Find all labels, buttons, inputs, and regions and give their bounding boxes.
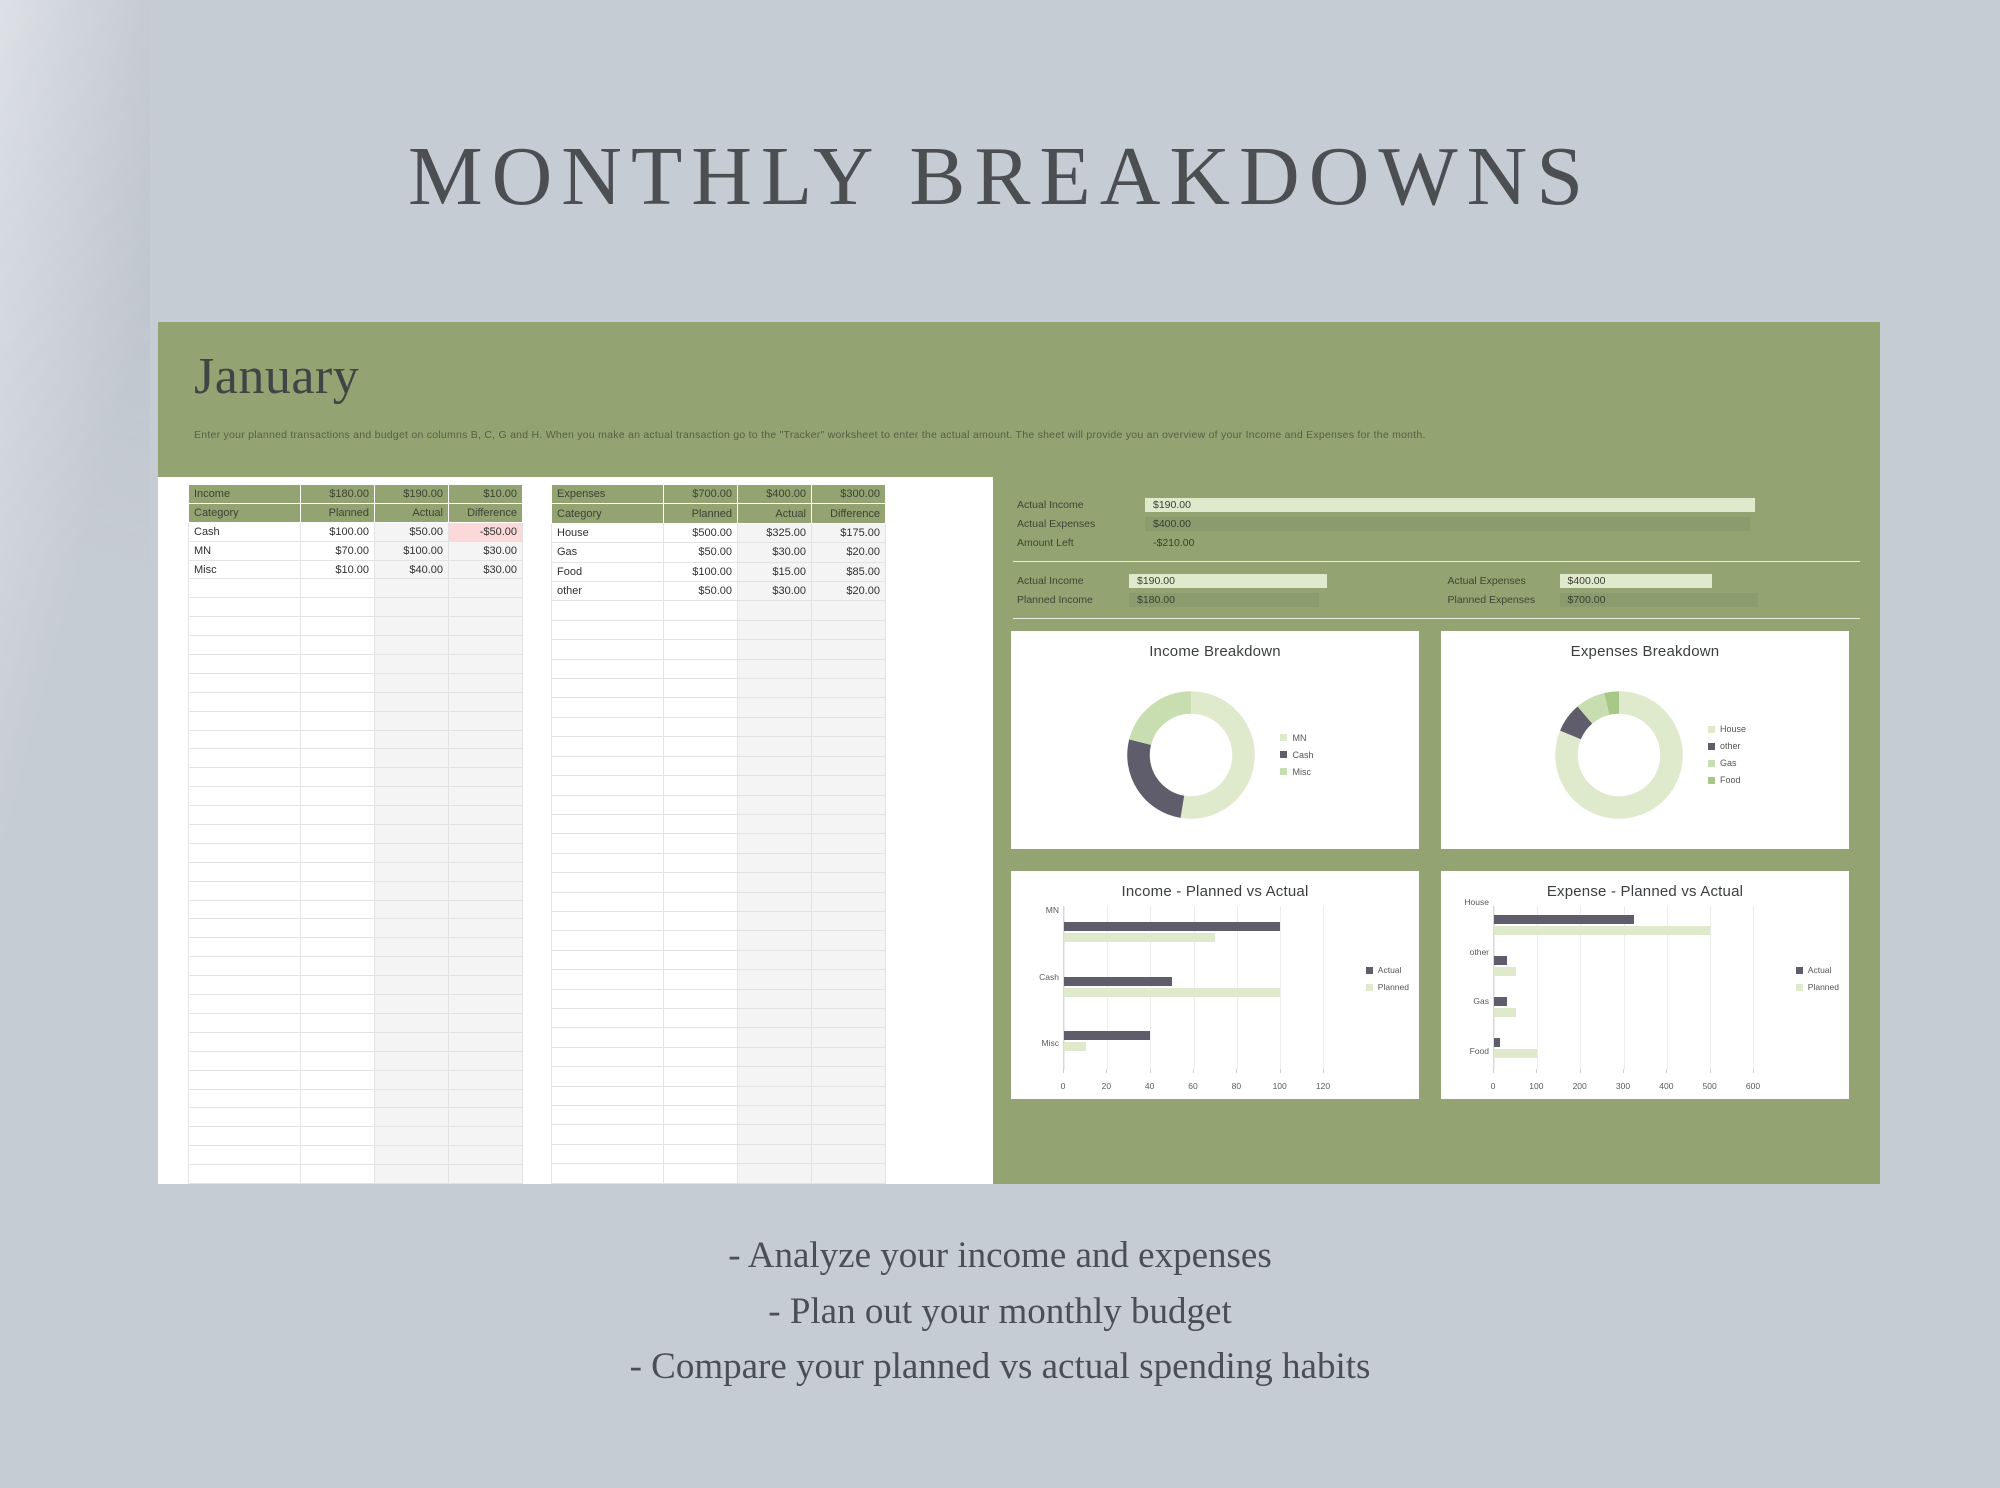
- table-row-empty[interactable]: [189, 1127, 523, 1146]
- legend-swatch: [1708, 726, 1715, 733]
- chart-expense-planned-vs-actual[interactable]: Expense - Planned vs Actual HouseotherGa…: [1441, 871, 1849, 1099]
- table-row-empty[interactable]: [189, 938, 523, 957]
- table-row-empty[interactable]: [552, 620, 886, 639]
- table-row-empty[interactable]: [552, 1164, 886, 1184]
- table-header-row: CategoryPlannedActualDifference: [189, 503, 523, 522]
- income-donut-chart: [1116, 680, 1266, 830]
- legend-label: Planned: [1808, 982, 1839, 992]
- legend-swatch: [1796, 967, 1803, 974]
- x-tick-label: 20: [1102, 1081, 1111, 1091]
- table-row-empty[interactable]: [189, 1089, 523, 1108]
- table-row-empty[interactable]: [552, 679, 886, 698]
- bar-actual: [1494, 956, 1507, 965]
- spreadsheet-card: January Enter your planned transactions …: [158, 322, 1880, 1184]
- category-label: Food: [1441, 1046, 1489, 1056]
- table-total-row: Expenses$700.00$400.00$300.00: [552, 485, 886, 504]
- x-tick-label: 200: [1573, 1081, 1587, 1091]
- bar-actual: [1494, 915, 1634, 924]
- summary-label: Amount Left: [1017, 537, 1145, 549]
- bar-actual: [1494, 1038, 1500, 1047]
- table-row-empty[interactable]: [189, 692, 523, 711]
- table-row-empty[interactable]: [552, 970, 886, 989]
- category-label: Cash: [1011, 972, 1059, 982]
- table-row-empty[interactable]: [189, 673, 523, 692]
- table-row-empty[interactable]: [189, 862, 523, 881]
- x-tick-label: 100: [1273, 1081, 1287, 1091]
- feature-bullets: - Analyze your income and expenses- Plan…: [0, 1228, 2000, 1395]
- bar-actual: [1064, 1031, 1150, 1040]
- bar-actual: [1494, 997, 1507, 1006]
- table-row-empty[interactable]: [552, 756, 886, 775]
- summary-row: Planned Expenses$700.00: [1448, 590, 1857, 609]
- legend-item: Cash: [1280, 750, 1313, 760]
- summary-label: Planned Income: [1017, 594, 1129, 606]
- legend-label: other: [1720, 741, 1741, 751]
- x-tick-label: 80: [1232, 1081, 1241, 1091]
- legend-item: Actual: [1366, 965, 1409, 975]
- category-label: House: [1441, 897, 1489, 907]
- legend-label: Food: [1720, 775, 1741, 785]
- summary-value: $700.00: [1560, 593, 1758, 607]
- summary-pairs: Actual Income$190.00Planned Income$180.0…: [1011, 571, 1862, 609]
- x-tick-label: 0: [1061, 1081, 1066, 1091]
- legend-swatch: [1366, 967, 1373, 974]
- summary-value: $190.00: [1129, 574, 1327, 588]
- table-row-empty[interactable]: [189, 976, 523, 995]
- legend-label: Cash: [1292, 750, 1313, 760]
- legend-item: MN: [1280, 733, 1313, 743]
- chart-title: Expense - Planned vs Actual: [1547, 883, 1743, 900]
- expenses-table[interactable]: Expenses$700.00$400.00$300.00CategoryPla…: [551, 484, 886, 1184]
- legend-label: Actual: [1808, 965, 1832, 975]
- x-tick-label: 60: [1188, 1081, 1197, 1091]
- category-label: other: [1441, 947, 1489, 957]
- expenses-donut-legend: HouseotherGasFood: [1708, 717, 1746, 792]
- table-row-empty[interactable]: [552, 640, 886, 659]
- legend-label: Gas: [1720, 758, 1737, 768]
- expenses-donut-chart: [1544, 680, 1694, 830]
- x-tick-label: 600: [1746, 1081, 1760, 1091]
- summary-row: Actual Income$190.00: [1017, 495, 1856, 514]
- table-row[interactable]: Food$100.00$15.00$85.00: [552, 562, 886, 581]
- table-row-empty[interactable]: [552, 1067, 886, 1086]
- table-row[interactable]: other$50.00$30.00$20.00: [552, 582, 886, 601]
- sheet-body: Income$180.00$190.00$10.00CategoryPlanne…: [158, 477, 1880, 1184]
- x-tick-label: 400: [1659, 1081, 1673, 1091]
- table-row-empty[interactable]: [189, 1108, 523, 1127]
- plot-area: [1063, 906, 1323, 1069]
- table-row-empty[interactable]: [189, 579, 523, 598]
- chart-title: Income Breakdown: [1149, 643, 1281, 660]
- legend-item: Food: [1708, 775, 1746, 785]
- summary-label: Planned Expenses: [1448, 594, 1560, 606]
- expense-bar-chart: HouseotherGasFood0100200300400500600Actu…: [1441, 900, 1849, 1099]
- table-row-empty[interactable]: [189, 1051, 523, 1070]
- table-row-empty[interactable]: [552, 601, 886, 620]
- table-row-empty[interactable]: [552, 659, 886, 678]
- income-donut-legend: MNCashMisc: [1280, 726, 1313, 784]
- legend-item: other: [1708, 741, 1746, 751]
- bar-planned: [1494, 1049, 1537, 1058]
- legend-label: Misc: [1292, 767, 1311, 777]
- table-row-empty[interactable]: [552, 1086, 886, 1105]
- table-row-empty[interactable]: [189, 787, 523, 806]
- table-row-empty[interactable]: [189, 881, 523, 900]
- bullet-line: - Compare your planned vs actual spendin…: [0, 1339, 2000, 1395]
- category-label: Gas: [1441, 996, 1489, 1006]
- summary-value: $180.00: [1129, 593, 1319, 607]
- table-row[interactable]: MN$70.00$100.00$30.00: [189, 541, 523, 560]
- summary-value: $400.00: [1560, 574, 1712, 588]
- legend-item: Actual: [1796, 965, 1839, 975]
- table-row-empty[interactable]: [552, 717, 886, 736]
- summary-label: Actual Expenses: [1448, 575, 1560, 587]
- table-row-empty[interactable]: [552, 776, 886, 795]
- table-row-empty[interactable]: [552, 1125, 886, 1144]
- legend-item: Planned: [1366, 982, 1409, 992]
- table-row-empty[interactable]: [189, 1070, 523, 1089]
- bar-planned: [1494, 926, 1710, 935]
- table-row-empty[interactable]: [189, 919, 523, 938]
- bullet-line: - Analyze your income and expenses: [0, 1228, 2000, 1284]
- bar-actual: [1064, 922, 1280, 931]
- table-header-row: CategoryPlannedActualDifference: [552, 504, 886, 523]
- legend-swatch: [1366, 984, 1373, 991]
- table-row-empty[interactable]: [189, 768, 523, 787]
- table-row-empty[interactable]: [189, 598, 523, 617]
- table-row-empty[interactable]: [552, 911, 886, 930]
- table-row-empty[interactable]: [189, 1146, 523, 1165]
- income-table[interactable]: Income$180.00$190.00$10.00CategoryPlanne…: [188, 484, 523, 1184]
- bar-planned: [1494, 967, 1516, 976]
- summary-row: Actual Income$190.00: [1017, 571, 1426, 590]
- category-label: MN: [1011, 905, 1059, 915]
- bullet-line: - Plan out your monthly budget: [0, 1284, 2000, 1340]
- table-row-empty[interactable]: [189, 711, 523, 730]
- summary-row: Actual Expenses$400.00: [1448, 571, 1857, 590]
- table-row-empty[interactable]: [189, 806, 523, 825]
- legend-label: Planned: [1378, 982, 1409, 992]
- table-row-empty[interactable]: [189, 617, 523, 636]
- legend-swatch: [1708, 760, 1715, 767]
- x-tick-label: 300: [1616, 1081, 1630, 1091]
- table-row-empty[interactable]: [552, 1047, 886, 1066]
- table-row-empty[interactable]: [552, 892, 886, 911]
- legend-swatch: [1280, 768, 1287, 775]
- charts-grid: Income Breakdown MNCashMisc Expenses Bre…: [1011, 631, 1862, 1099]
- sheet-header: January Enter your planned transactions …: [158, 322, 1880, 477]
- table-row-empty[interactable]: [189, 843, 523, 862]
- divider: [1013, 561, 1860, 562]
- sheet-instructions: Enter your planned transactions and budg…: [194, 429, 1844, 441]
- x-tick-label: 120: [1316, 1081, 1330, 1091]
- legend-item: House: [1708, 724, 1746, 734]
- table-row-empty[interactable]: [189, 957, 523, 976]
- table-row-empty[interactable]: [189, 655, 523, 674]
- legend-swatch: [1280, 751, 1287, 758]
- summary-expense-pair: Actual Expenses$400.00Planned Expenses$7…: [1448, 571, 1857, 609]
- month-title: January: [194, 350, 1844, 405]
- legend-swatch: [1708, 777, 1715, 784]
- table-row-empty[interactable]: [552, 1008, 886, 1027]
- x-tick-label: 0: [1491, 1081, 1496, 1091]
- legend-swatch: [1280, 734, 1287, 741]
- summary-label: Actual Expenses: [1017, 518, 1145, 530]
- legend-item: Planned: [1796, 982, 1839, 992]
- summary-label: Actual Income: [1017, 499, 1145, 511]
- table-row-empty[interactable]: [552, 853, 886, 872]
- chart-title: Income - Planned vs Actual: [1122, 883, 1309, 900]
- table-row-empty[interactable]: [189, 995, 523, 1014]
- summary-row: Planned Income$180.00: [1017, 590, 1426, 609]
- legend-item: Gas: [1708, 758, 1746, 768]
- bar-planned: [1064, 988, 1280, 997]
- dashboard-panel: Actual Income$190.00Actual Expenses$400.…: [993, 477, 1880, 1184]
- table-row-empty[interactable]: [552, 698, 886, 717]
- page-title: MONTHLY BREAKDOWNS: [0, 128, 2000, 225]
- table-row-empty[interactable]: [189, 1032, 523, 1051]
- table-row-empty[interactable]: [189, 1165, 523, 1184]
- table-row-empty[interactable]: [552, 989, 886, 1008]
- summary-row: Actual Expenses$400.00: [1017, 514, 1856, 533]
- summary-value: -$210.00: [1145, 536, 1265, 550]
- table-row-empty[interactable]: [552, 814, 886, 833]
- table-row-empty[interactable]: [189, 749, 523, 768]
- bar-actual: [1064, 977, 1172, 986]
- table-row-empty[interactable]: [552, 950, 886, 969]
- summary-label: Actual Income: [1017, 575, 1129, 587]
- summary-top: Actual Income$190.00Actual Expenses$400.…: [1011, 491, 1862, 552]
- tables-area: Income$180.00$190.00$10.00CategoryPlanne…: [158, 477, 993, 1184]
- chart-expenses-breakdown[interactable]: Expenses Breakdown HouseotherGasFood: [1441, 631, 1849, 849]
- summary-row: Amount Left-$210.00: [1017, 533, 1856, 552]
- table-total-row: Income$180.00$190.00$10.00: [189, 485, 523, 504]
- legend-label: Actual: [1378, 965, 1402, 975]
- table-row-empty[interactable]: [552, 795, 886, 814]
- chart-title: Expenses Breakdown: [1571, 643, 1720, 660]
- legend-label: House: [1720, 724, 1746, 734]
- table-row-empty[interactable]: [552, 931, 886, 950]
- x-tick-label: 500: [1703, 1081, 1717, 1091]
- legend-swatch: [1796, 984, 1803, 991]
- x-tick-label: 40: [1145, 1081, 1154, 1091]
- table-row-empty[interactable]: [189, 730, 523, 749]
- chart-income-breakdown[interactable]: Income Breakdown MNCashMisc: [1011, 631, 1419, 849]
- plot-area: [1493, 906, 1753, 1069]
- legend-swatch: [1708, 743, 1715, 750]
- table-row-empty[interactable]: [552, 1028, 886, 1047]
- income-bar-chart: MNCashMisc020406080100120ActualPlanned: [1011, 900, 1419, 1099]
- table-row[interactable]: House$500.00$325.00$175.00: [552, 523, 886, 542]
- table-row-empty[interactable]: [552, 834, 886, 853]
- table-row-empty[interactable]: [552, 737, 886, 756]
- summary-value: $190.00: [1145, 498, 1755, 512]
- bar-planned: [1064, 1042, 1086, 1051]
- table-row-empty[interactable]: [189, 1013, 523, 1032]
- table-row[interactable]: Gas$50.00$30.00$20.00: [552, 543, 886, 562]
- table-row[interactable]: Misc$10.00$40.00$30.00: [189, 560, 523, 579]
- bar-planned: [1064, 933, 1215, 942]
- table-row-empty[interactable]: [552, 1106, 886, 1125]
- divider-2: [1013, 618, 1860, 619]
- table-row-empty[interactable]: [189, 900, 523, 919]
- legend-item: Misc: [1280, 767, 1313, 777]
- legend-label: MN: [1292, 733, 1306, 743]
- x-tick-label: 100: [1529, 1081, 1543, 1091]
- bar-legend: ActualPlanned: [1366, 958, 1409, 999]
- bar-legend: ActualPlanned: [1796, 958, 1839, 999]
- table-row-empty[interactable]: [189, 636, 523, 655]
- summary-value: $400.00: [1145, 517, 1750, 531]
- table-row[interactable]: Cash$100.00$50.00-$50.00: [189, 522, 523, 541]
- bar-planned: [1494, 1008, 1516, 1017]
- summary-income-pair: Actual Income$190.00Planned Income$180.0…: [1017, 571, 1426, 609]
- category-label: Misc: [1011, 1038, 1059, 1048]
- table-row-empty[interactable]: [189, 825, 523, 844]
- chart-income-planned-vs-actual[interactable]: Income - Planned vs Actual MNCashMisc020…: [1011, 871, 1419, 1099]
- table-row-empty[interactable]: [552, 1144, 886, 1163]
- table-row-empty[interactable]: [552, 873, 886, 892]
